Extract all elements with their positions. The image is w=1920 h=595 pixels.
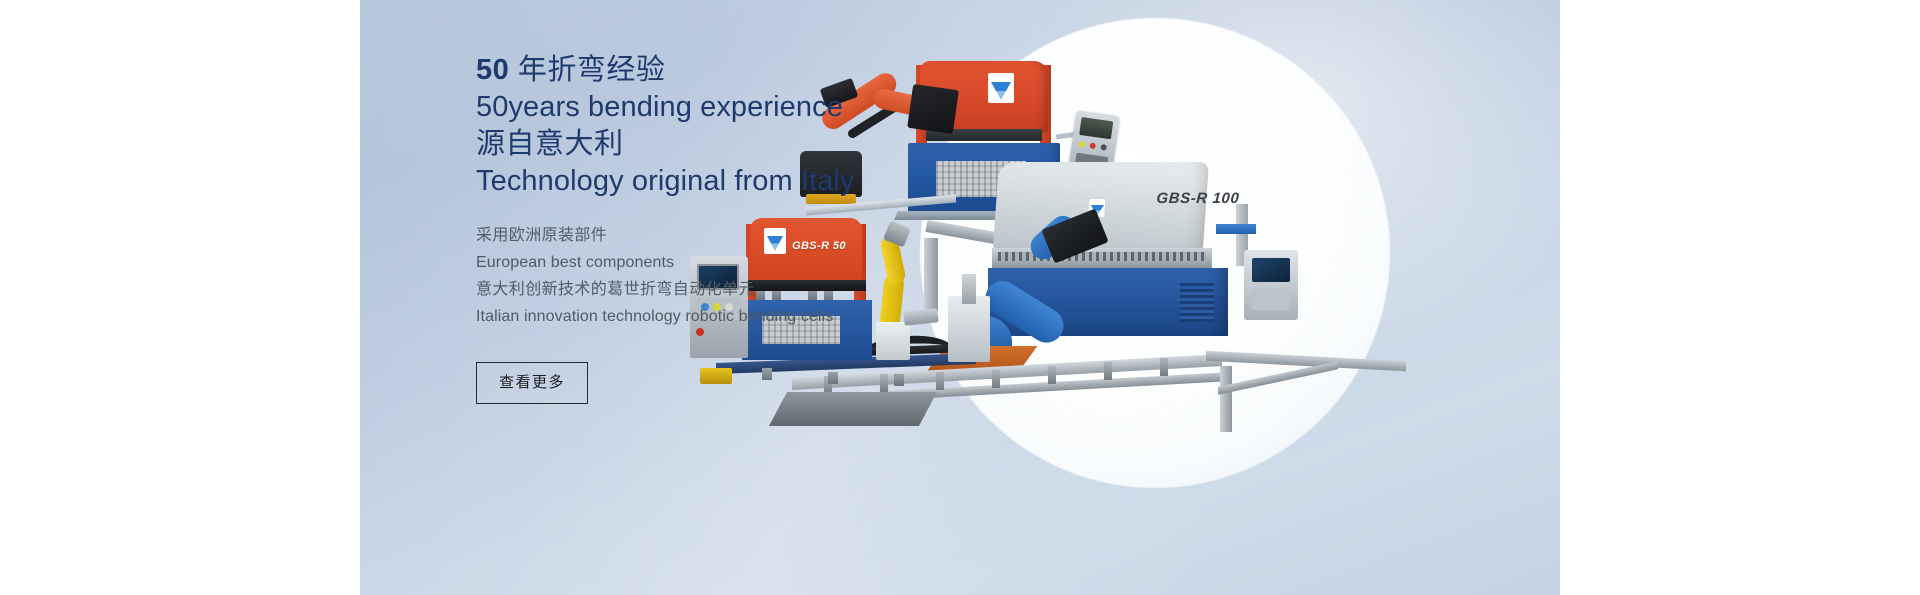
rail-tie bbox=[1160, 358, 1168, 376]
subline-2: European best components bbox=[476, 249, 1076, 276]
operator-panel bbox=[1244, 250, 1298, 320]
banner-subcopy: 采用欧洲原装部件 European best components 意大利创新技… bbox=[476, 222, 1076, 330]
headline-line-2: 50years bending experience bbox=[476, 89, 1076, 126]
headline-line-4: Technology original from Italy bbox=[476, 163, 1076, 200]
view-more-button[interactable]: 查看更多 bbox=[476, 362, 588, 404]
headline-line-1-text: 年折弯经验 bbox=[509, 54, 665, 86]
hero-banner: GBS-R 50 bbox=[360, 0, 1560, 595]
safety-mast-arm bbox=[1216, 224, 1256, 234]
subline-1: 采用欧洲原装部件 bbox=[476, 222, 1076, 249]
pendant-key-dark bbox=[1100, 144, 1107, 151]
machine-model-label: GBS-R 100 bbox=[1156, 190, 1240, 207]
rail-tie bbox=[1104, 362, 1112, 380]
headline-line-3: 源自意大利 bbox=[476, 126, 1076, 163]
panel-screen bbox=[1252, 258, 1290, 282]
pendant-key-yellow bbox=[1078, 141, 1085, 148]
pendant-key-red bbox=[1089, 142, 1096, 149]
panel-keypad bbox=[1252, 288, 1290, 310]
pendant-screen bbox=[1079, 117, 1113, 139]
banner-copy: 50 年折弯经验 50years bending experience 源自意大… bbox=[476, 52, 1076, 404]
page-root: GBS-R 50 bbox=[0, 0, 1920, 595]
cantilever-brace bbox=[1218, 361, 1338, 395]
cantilever-post bbox=[1220, 366, 1232, 432]
subline-4: Italian innovation technology robotic be… bbox=[476, 303, 1076, 330]
headline-line-1: 50 年折弯经验 bbox=[476, 52, 1076, 89]
subline-3: 意大利创新技术的葛世折弯自动化单元 bbox=[476, 276, 1076, 303]
press-grille bbox=[1180, 282, 1214, 322]
headline-lead-number: 50 bbox=[476, 54, 509, 86]
